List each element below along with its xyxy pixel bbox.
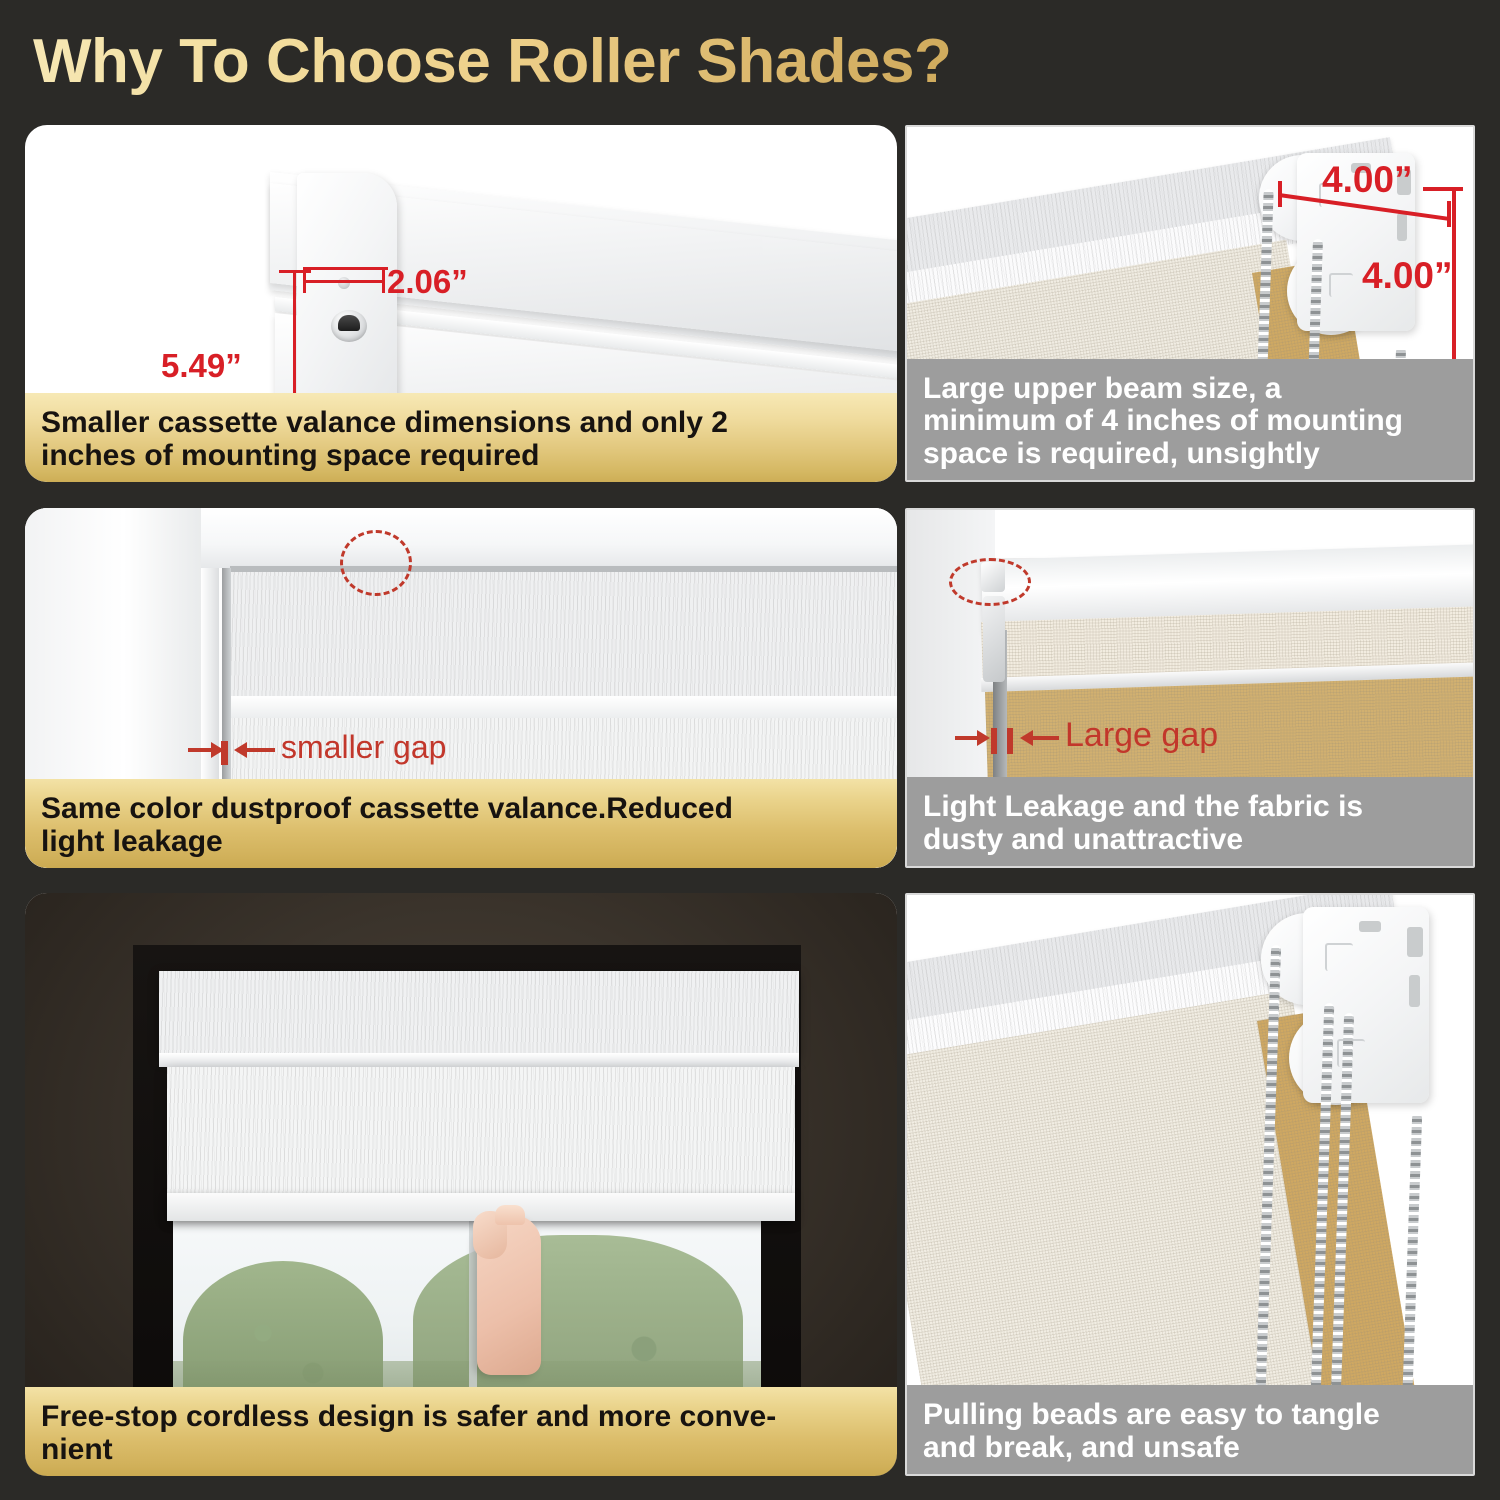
height-dimension-label: 4.00” xyxy=(1362,255,1453,297)
window-head-jamb xyxy=(201,508,897,568)
height-dim-line xyxy=(1452,189,1456,381)
bracket-slot-mid xyxy=(1397,213,1407,241)
gap-arrow-right-head xyxy=(1020,730,1033,746)
bracket-arrow-lower-icon xyxy=(1329,273,1353,297)
caption-line: Smaller cassette valance dimensions and … xyxy=(41,407,881,439)
gap-marker-right xyxy=(1007,728,1013,754)
panel-4-caption: Light Leakage and the fabric is dusty an… xyxy=(907,777,1473,866)
panel-light-leakage: Large gap Light Leakage and the fabric i… xyxy=(905,508,1475,868)
caption-line: Same color dustproof cassette valance.Re… xyxy=(41,793,881,825)
caption-line: dusty and unattractive xyxy=(923,824,1457,856)
roller-bracket xyxy=(1259,903,1469,1133)
bead-chain-right xyxy=(1402,1113,1422,1413)
caption-line: inches of mounting space required xyxy=(41,440,881,472)
valance-bottom-bar xyxy=(230,696,897,718)
width-dim-tick-left xyxy=(1278,181,1282,207)
caption-line: and break, and unsafe xyxy=(923,1432,1457,1464)
panel-cordless-design: Free-stop cordless design is safer and m… xyxy=(25,893,897,1476)
gap-arrow-right-shaft xyxy=(1033,736,1059,740)
highlight-circle xyxy=(340,530,412,596)
panel-2-caption: Large upper beam size, a minimum of 4 in… xyxy=(907,359,1473,480)
cassette-valance xyxy=(230,568,897,696)
bracket-arm xyxy=(983,596,1005,682)
highlight-circle xyxy=(949,558,1031,606)
valance-top-line xyxy=(230,566,897,572)
panel-5-caption: Free-stop cordless design is safer and m… xyxy=(25,1387,897,1476)
caption-line: Pulling beads are easy to tangle xyxy=(923,1399,1457,1431)
mounting-screw-upper xyxy=(338,277,350,289)
height-dimension-label: 5.49” xyxy=(161,347,242,385)
bracket-slot-upper-small xyxy=(1359,921,1381,932)
caption-line: Light Leakage and the fabric is xyxy=(923,791,1457,823)
panel-1-caption: Smaller cassette valance dimensions and … xyxy=(25,393,897,482)
width-dim-tick-right xyxy=(382,269,385,293)
window-view xyxy=(173,1211,761,1415)
caption-line: space is required, unsightly xyxy=(923,438,1457,470)
caption-line: nient xyxy=(41,1434,881,1466)
valance-lip xyxy=(159,1053,799,1067)
panel-dustproof-valance: smaller gap Same color dustproof cassett… xyxy=(25,508,897,868)
height-dim-tick-top xyxy=(279,270,311,273)
infographic-root: Why To Choose Roller Shades? 2.06” xyxy=(0,0,1500,1500)
gap-callout-label: smaller gap xyxy=(281,729,446,766)
caption-line: Large upper beam size, a xyxy=(923,373,1457,405)
panel-smaller-cassette: 2.06” 5.49” Smaller cassette valance dim… xyxy=(25,125,897,482)
width-dimension-label: 2.06” xyxy=(387,263,468,301)
page-title: Why To Choose Roller Shades? xyxy=(33,24,1133,100)
panel-6-caption: Pulling beads are easy to tangle and bre… xyxy=(907,1385,1473,1474)
caption-line: light leakage xyxy=(41,826,881,858)
panel-3-caption: Same color dustproof cassette valance.Re… xyxy=(25,779,897,868)
cassette-valance-header xyxy=(159,971,799,1057)
height-dim-tick-top xyxy=(1423,187,1463,191)
width-dim-line xyxy=(305,280,385,283)
gap-arrow-left-shaft xyxy=(955,736,979,740)
bracket-slot-mid xyxy=(1409,975,1420,1007)
width-dimension-label: 4.00” xyxy=(1322,159,1413,201)
gap-arrow-left-head xyxy=(977,730,990,746)
width-dim-tick-right xyxy=(1447,201,1451,227)
bracket-arrow-upper-icon xyxy=(1325,943,1353,971)
gap-arrow-left-head xyxy=(211,742,224,758)
gap-marker-left xyxy=(991,728,997,754)
bracket-slot-top xyxy=(1407,927,1423,957)
fingertips xyxy=(495,1205,525,1225)
panel-pulling-beads: Pulling beads are easy to tangle and bre… xyxy=(905,893,1475,1476)
panel-large-upper-beam: 4.00” 4.00” Large upper beam size, a min… xyxy=(905,125,1475,482)
caption-line: minimum of 4 inches of mounting xyxy=(923,405,1457,437)
knob-recess xyxy=(338,315,360,331)
gap-arrow-right-head xyxy=(234,742,247,758)
width-dim-extension xyxy=(303,267,388,270)
gap-callout-label: Large gap xyxy=(1065,716,1218,755)
caption-line: Free-stop cordless design is safer and m… xyxy=(41,1401,881,1433)
gap-arrow-right-shaft xyxy=(247,748,275,752)
